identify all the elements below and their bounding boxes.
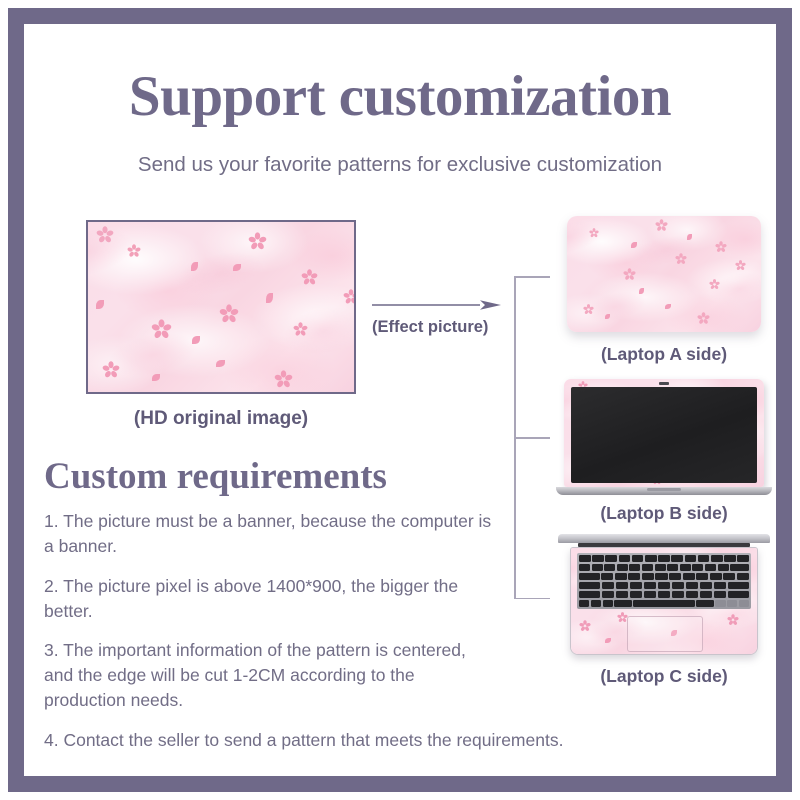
key (601, 573, 613, 580)
key-backspace (730, 564, 749, 571)
key (655, 573, 667, 580)
key (642, 573, 654, 580)
key (672, 591, 685, 598)
key (644, 591, 657, 598)
sakura-flower-icon (675, 253, 687, 265)
sakura-flower-icon (709, 279, 720, 290)
key-command-left (614, 600, 631, 607)
laptop-c-preview: (Laptop C side) (552, 534, 776, 687)
key (724, 555, 736, 562)
keyboard-row (579, 573, 749, 580)
bracket-tick-middle (514, 437, 550, 439)
key (710, 573, 722, 580)
key-arrow-right (739, 600, 749, 607)
requirement-item: 4. Contact the seller to send a pattern … (44, 728, 744, 753)
arrow-right-icon (372, 296, 502, 314)
sakura-flower-icon (301, 269, 318, 286)
laptop-c-trackpad (627, 616, 703, 652)
laptop-c-caption: (Laptop C side) (552, 666, 776, 687)
sakura-flower-icon (583, 304, 594, 315)
requirements-list: 1. The picture must be a banner, because… (44, 509, 492, 768)
sakura-flower-icon (579, 620, 591, 632)
sakura-flower-icon (293, 322, 308, 337)
sakura-flower-icon (727, 614, 739, 626)
sakura-flower-icon (151, 319, 172, 340)
key (696, 573, 708, 580)
laptop-b-body (556, 379, 772, 495)
key (655, 564, 666, 571)
key (602, 582, 615, 589)
sakura-flower-icon (274, 370, 293, 389)
key (628, 573, 640, 580)
key (669, 573, 681, 580)
key (604, 564, 615, 571)
page-subtitle: Send us your favorite patterns for exclu… (24, 153, 776, 177)
laptop-c-base (570, 547, 758, 655)
key-ctrl (591, 600, 601, 607)
key (737, 573, 749, 580)
sakura-flower-icon (96, 226, 114, 244)
laptop-c-body (556, 534, 772, 658)
key (686, 582, 699, 589)
page-canvas: Support customization Send us your favor… (24, 24, 776, 776)
key (579, 564, 590, 571)
key (737, 555, 749, 562)
key-space (633, 600, 695, 607)
key-shift-left (579, 591, 600, 598)
key (615, 573, 627, 580)
key-arrow-left (715, 600, 725, 607)
laptop-preview-column: (Laptop A side) ( (552, 216, 776, 687)
laptop-a-preview: (Laptop A side) (552, 216, 776, 365)
key-fn (579, 600, 589, 607)
sakura-flower-icon (735, 260, 746, 271)
requirement-item: 3. The important information of the patt… (44, 638, 492, 713)
hd-original-image-caption: (HD original image) (86, 408, 356, 430)
preview-bracket (514, 276, 554, 599)
webcam-icon (659, 382, 669, 385)
key (629, 564, 640, 571)
bracket-tick-top (514, 276, 550, 278)
requirements-title: Custom requirements (44, 455, 387, 498)
key (700, 582, 713, 589)
key (685, 555, 697, 562)
sakura-flower-icon (219, 304, 239, 324)
key (658, 582, 671, 589)
requirement-item: 2. The picture pixel is above 1400*900, … (44, 574, 492, 624)
sakura-flower-icon (102, 361, 120, 379)
key (718, 564, 729, 571)
sakura-flower-icon (589, 228, 599, 238)
key-tab (579, 573, 600, 580)
key (616, 591, 629, 598)
key (644, 582, 657, 589)
laptop-b-notch (647, 488, 681, 491)
key (632, 555, 644, 562)
key (698, 555, 710, 562)
key (605, 555, 617, 562)
key (579, 555, 591, 562)
requirement-item: 1. The picture must be a banner, because… (44, 509, 492, 559)
key (592, 564, 603, 571)
key (630, 591, 643, 598)
keyboard-row (579, 582, 749, 589)
key (630, 582, 643, 589)
key-arrow-updown (727, 600, 737, 607)
key-shift-right (728, 591, 749, 598)
laptop-a-lid (567, 216, 761, 332)
sakura-flower-icon (127, 244, 141, 258)
effect-picture-label: (Effect picture) (372, 318, 512, 337)
key (619, 555, 631, 562)
keyboard-row (579, 555, 749, 562)
key (671, 555, 683, 562)
page-title: Support customization (24, 67, 776, 127)
key-option (603, 600, 613, 607)
laptop-a-caption: (Laptop A side) (552, 344, 776, 365)
key-command-right (696, 600, 713, 607)
bracket-tick-bottom (514, 598, 550, 600)
laptop-b-lid (564, 379, 764, 487)
laptop-b-screen (571, 387, 757, 483)
hd-original-image (86, 220, 356, 394)
key-capslock (579, 582, 600, 589)
sakura-flower-icon (248, 232, 267, 251)
key (723, 573, 735, 580)
laptop-b-preview: (Laptop B side) (552, 379, 776, 524)
sakura-flower-icon (623, 268, 636, 281)
hd-original-image-block: (HD original image) (86, 220, 366, 430)
key (602, 591, 615, 598)
key (705, 564, 716, 571)
key (714, 582, 727, 589)
effect-arrow-block: (Effect picture) (372, 296, 512, 337)
laptop-b-base (556, 487, 772, 495)
keyboard-row (579, 600, 749, 607)
key (714, 591, 727, 598)
key (592, 555, 604, 562)
key (711, 555, 723, 562)
key (616, 582, 629, 589)
key (686, 591, 699, 598)
key (617, 564, 628, 571)
key (680, 564, 691, 571)
keyboard-row (579, 591, 749, 598)
sakura-flower-icon (655, 219, 668, 232)
sakura-flower-icon (715, 241, 727, 253)
key (667, 564, 678, 571)
laptop-c-lid-edge (558, 534, 770, 543)
key (645, 555, 657, 562)
key (658, 555, 670, 562)
key (642, 564, 653, 571)
laptop-b-caption: (Laptop B side) (552, 503, 776, 524)
sakura-flower-icon (697, 312, 710, 325)
keyboard-row (579, 564, 749, 571)
promo-page: Support customization Send us your favor… (0, 0, 800, 800)
laptop-c-keyboard (577, 553, 751, 609)
key (692, 564, 703, 571)
sakura-flower-icon (343, 289, 356, 305)
key (658, 591, 671, 598)
key (700, 591, 713, 598)
key (672, 582, 685, 589)
key (683, 573, 695, 580)
key-enter (728, 582, 749, 589)
